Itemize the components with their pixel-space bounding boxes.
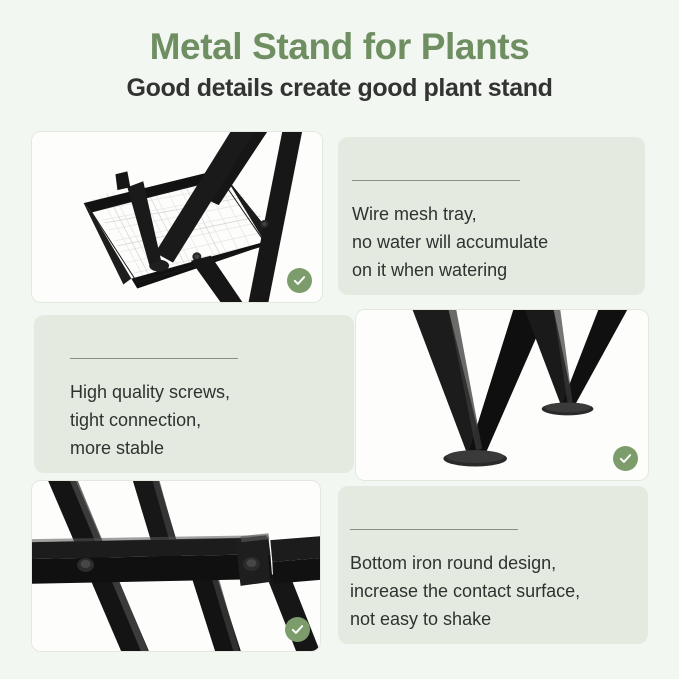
check-icon xyxy=(618,451,633,466)
v-shaped-legs-photo xyxy=(356,310,648,480)
product-photo-card-v-legs xyxy=(355,309,649,481)
header: Metal Stand for Plants Good details crea… xyxy=(0,0,679,103)
panel-rule xyxy=(352,180,520,181)
panel-rule xyxy=(70,358,238,359)
feature-text-panel-bottom-iron-round-design: Bottom iron round design, increase the c… xyxy=(338,486,648,644)
feature-text: High quality screws, tight connection, m… xyxy=(70,378,350,462)
feature-row-bottom-iron-round-design: Bottom iron round design, increase the c… xyxy=(0,474,679,656)
check-badge xyxy=(613,446,638,471)
product-photo-card-wire-mesh-tray xyxy=(31,131,323,303)
product-photo-card-cross-bars xyxy=(31,480,321,652)
page-subtitle: Good details create good plant stand xyxy=(0,69,679,103)
infographic-page: Metal Stand for Plants Good details crea… xyxy=(0,0,679,679)
feature-row-high-quality-screws: High quality screws, tight connection, m… xyxy=(0,303,679,485)
cross-bar-joint-photo xyxy=(32,481,320,651)
check-badge xyxy=(285,617,310,642)
feature-text: Bottom iron round design, increase the c… xyxy=(350,549,650,633)
panel-rule xyxy=(350,529,518,530)
check-icon xyxy=(292,273,307,288)
check-badge xyxy=(287,268,312,293)
check-icon xyxy=(290,622,305,637)
feature-text: Wire mesh tray, no water will accumulate… xyxy=(352,200,642,284)
feature-text-panel-high-quality-screws: High quality screws, tight connection, m… xyxy=(34,315,354,473)
wire-mesh-tray-photo xyxy=(32,132,322,302)
feature-text-panel-wire-mesh-tray: Wire mesh tray, no water will accumulate… xyxy=(338,137,645,295)
feature-row-wire-mesh-tray: Wire mesh tray, no water will accumulate… xyxy=(0,125,679,307)
page-title: Metal Stand for Plants xyxy=(0,0,679,69)
